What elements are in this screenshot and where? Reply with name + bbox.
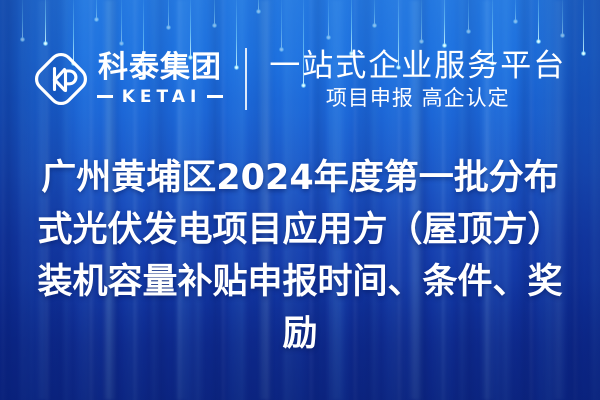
tagline-secondary: 项目申报 高企认定 xyxy=(326,85,510,111)
brand-name-cn: 科泰集团 xyxy=(98,52,222,84)
brand-tagline: 一站式企业服务平台 项目申报 高企认定 xyxy=(249,48,566,111)
dash-left-icon xyxy=(97,95,113,98)
dash-right-icon xyxy=(207,95,223,98)
brand-wordmark: 科泰集团 KETAI xyxy=(97,52,224,107)
vertical-divider-icon xyxy=(245,48,247,110)
ketai-diamond-kp-logo-icon xyxy=(34,52,88,106)
page-title: 广州黄埔区2024年度第一批分布式光伏发电项目应用方（屋顶方）装机容量补贴申报时… xyxy=(28,152,572,360)
brand-name-en: KETAI xyxy=(119,87,202,107)
promo-banner: 科泰集团 KETAI 一站式企业服务平台 项目申报 高企认定 广州黄埔区2024… xyxy=(0,0,600,400)
brand-name-en-row: KETAI xyxy=(97,87,224,107)
banner-header: 科泰集团 KETAI 一站式企业服务平台 项目申报 高企认定 xyxy=(0,40,600,118)
brand-logo: 科泰集团 KETAI xyxy=(34,52,244,107)
tagline-primary: 一站式企业服务平台 xyxy=(269,48,566,84)
